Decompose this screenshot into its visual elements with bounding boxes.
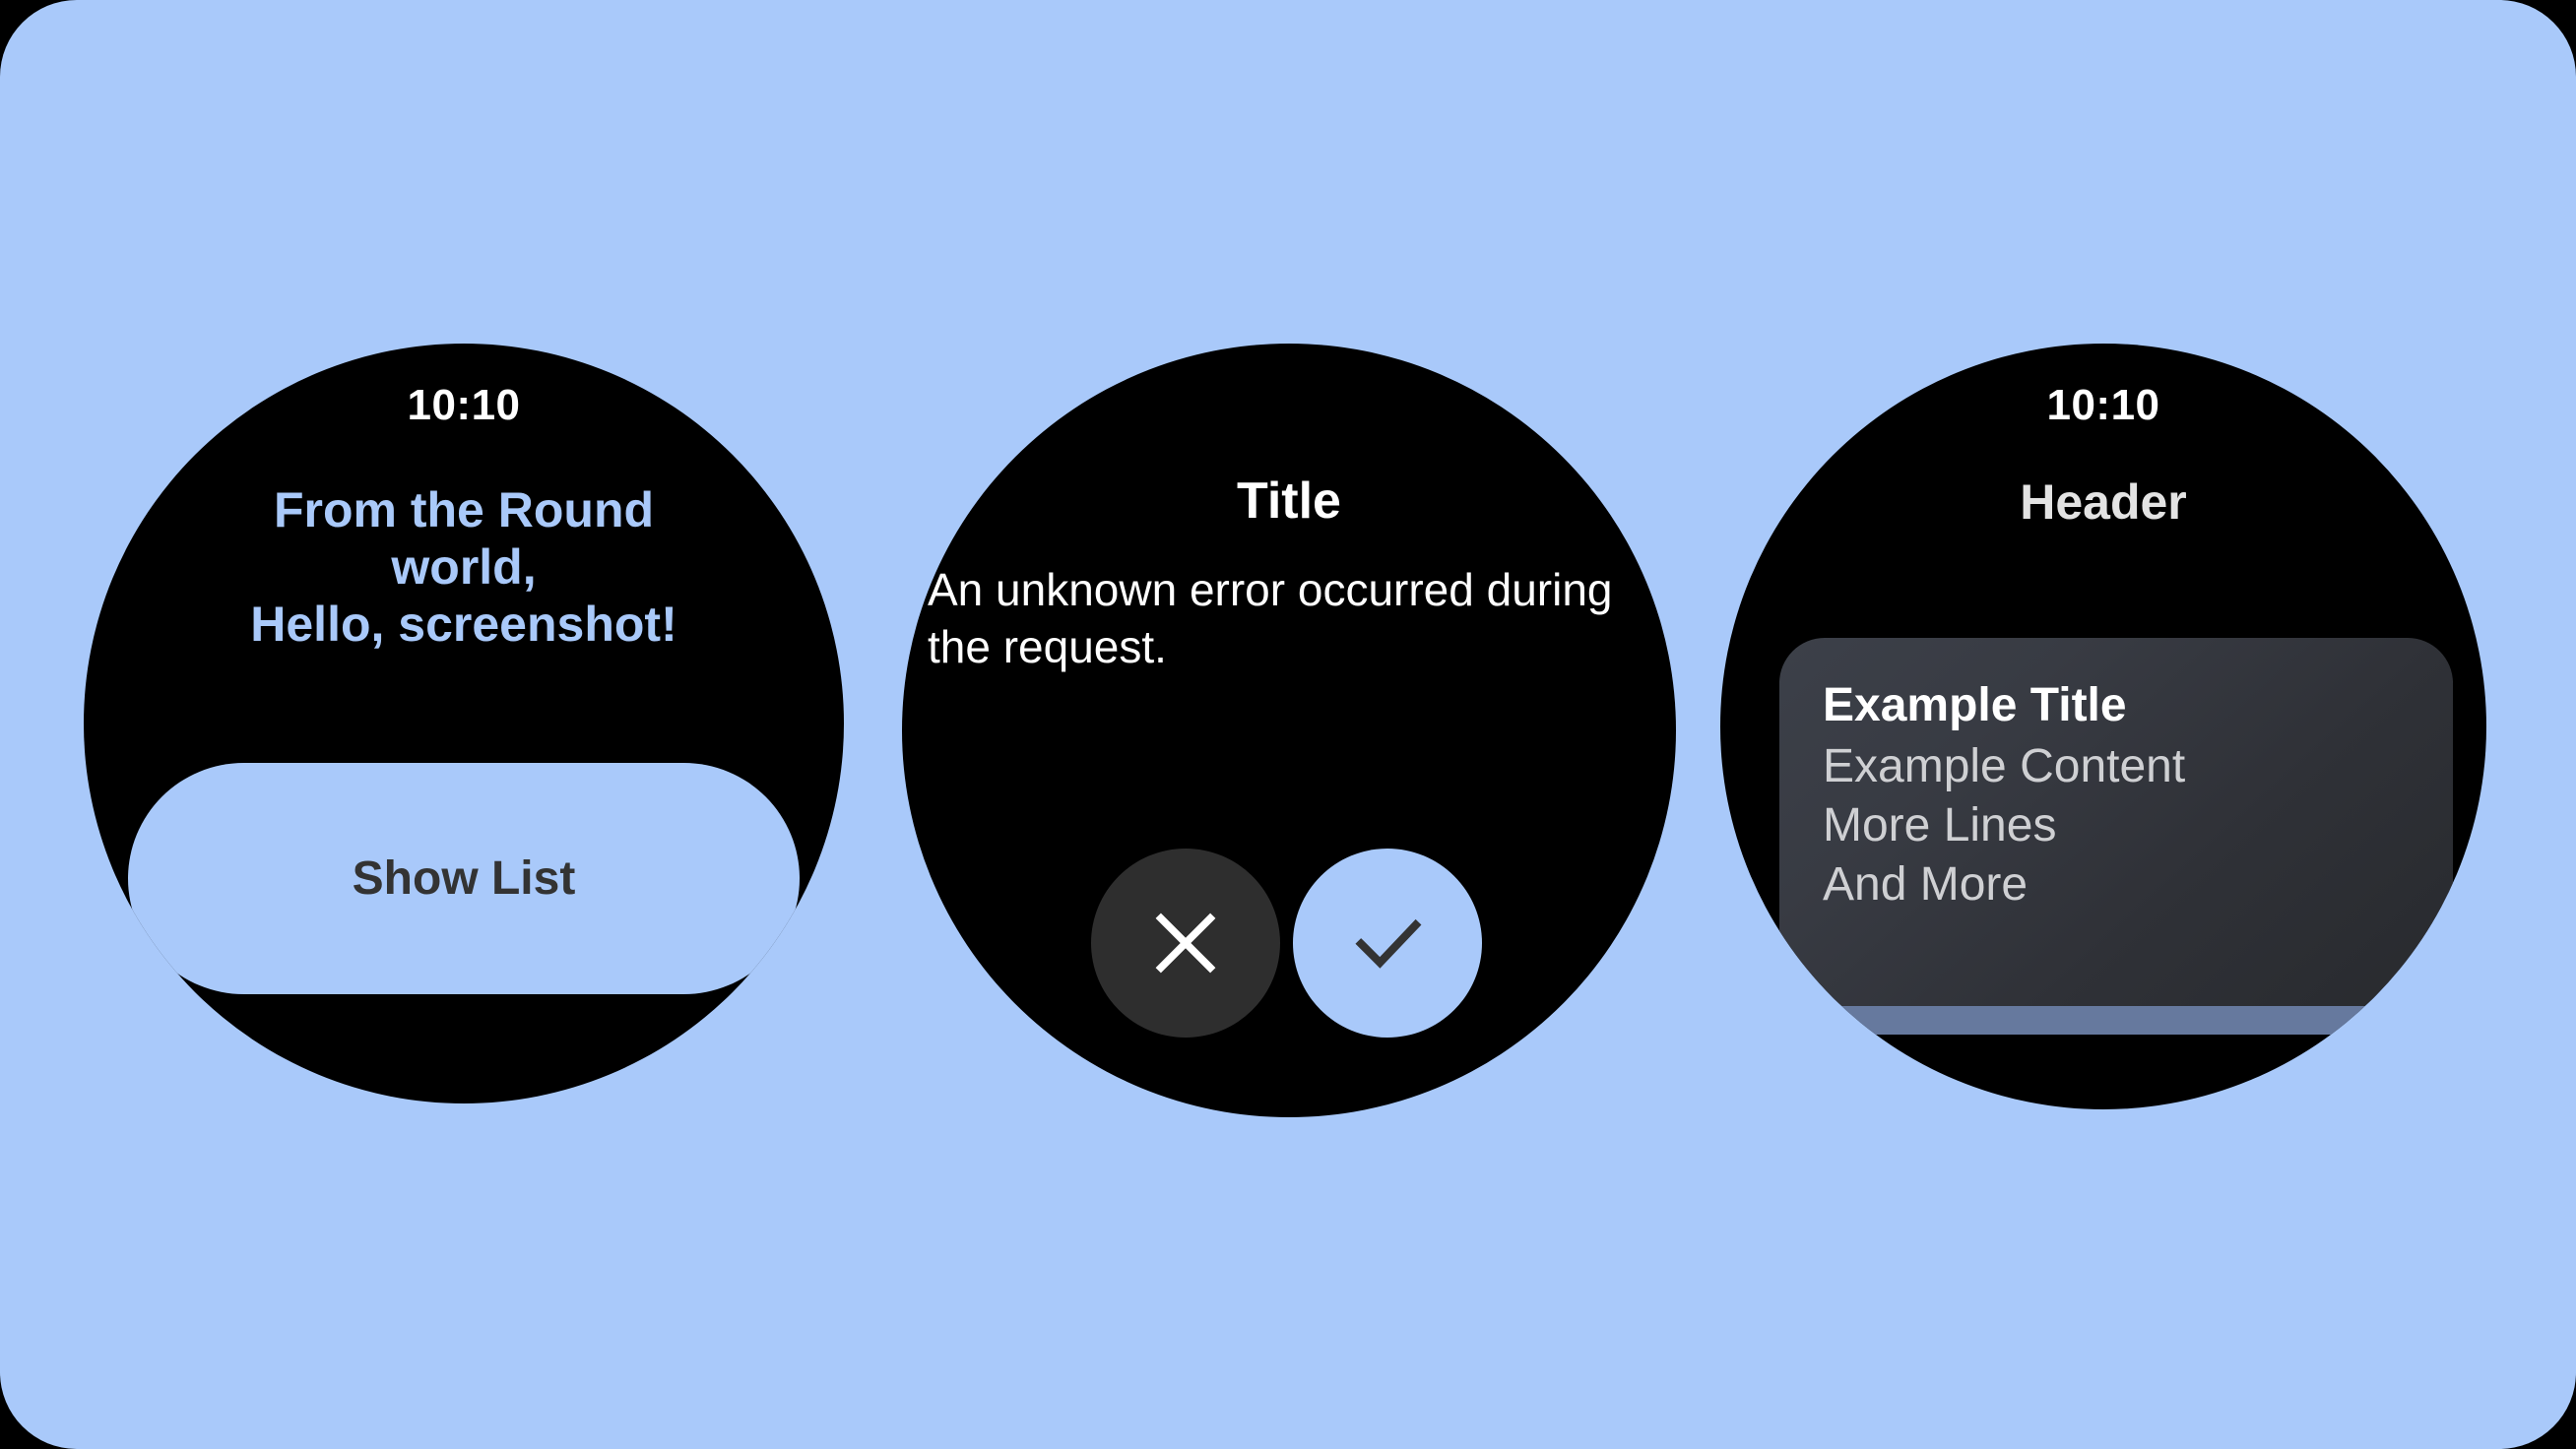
dismiss-button[interactable]	[1091, 849, 1280, 1038]
check-icon	[1342, 898, 1433, 988]
card-line-1: Example Content	[1823, 737, 2419, 796]
greeting-line-1: From the Round	[274, 482, 654, 537]
page-header: Header	[1720, 473, 2486, 531]
dialog-message: An unknown error occurred during the req…	[928, 562, 1650, 675]
confirm-button[interactable]	[1293, 849, 1482, 1038]
screenshot-canvas: 10:10 From the Round world, Hello, scree…	[0, 0, 2576, 1449]
card-title: Example Title	[1823, 681, 2419, 731]
close-icon	[1143, 901, 1228, 985]
watch-round-card: 10:10 Header Example Title Example Conte…	[1720, 344, 2486, 1109]
show-list-button[interactable]: Show List	[128, 763, 800, 994]
watch-screen: Title An unknown error occurred during t…	[902, 344, 1676, 1117]
watch-screen: 10:10 From the Round world, Hello, scree…	[84, 344, 844, 1103]
dialog-title: Title	[902, 472, 1676, 531]
example-card[interactable]: Example Title Example Content More Lines…	[1779, 638, 2453, 1006]
watch-round-dialog: Title An unknown error occurred during t…	[902, 344, 1676, 1117]
card-line-3: And More	[1823, 855, 2419, 914]
card-line-2: More Lines	[1823, 796, 2419, 855]
greeting-line-2: world,	[391, 539, 536, 595]
greeting-line-3: Hello, screenshot!	[250, 597, 676, 652]
status-time: 10:10	[1720, 381, 2486, 430]
greeting-text: From the Round world, Hello, screenshot!	[84, 481, 844, 653]
watch-screen: 10:10 Header Example Title Example Conte…	[1720, 344, 2486, 1109]
status-time: 10:10	[84, 381, 844, 430]
watch-round-hello: 10:10 From the Round world, Hello, scree…	[84, 344, 844, 1103]
